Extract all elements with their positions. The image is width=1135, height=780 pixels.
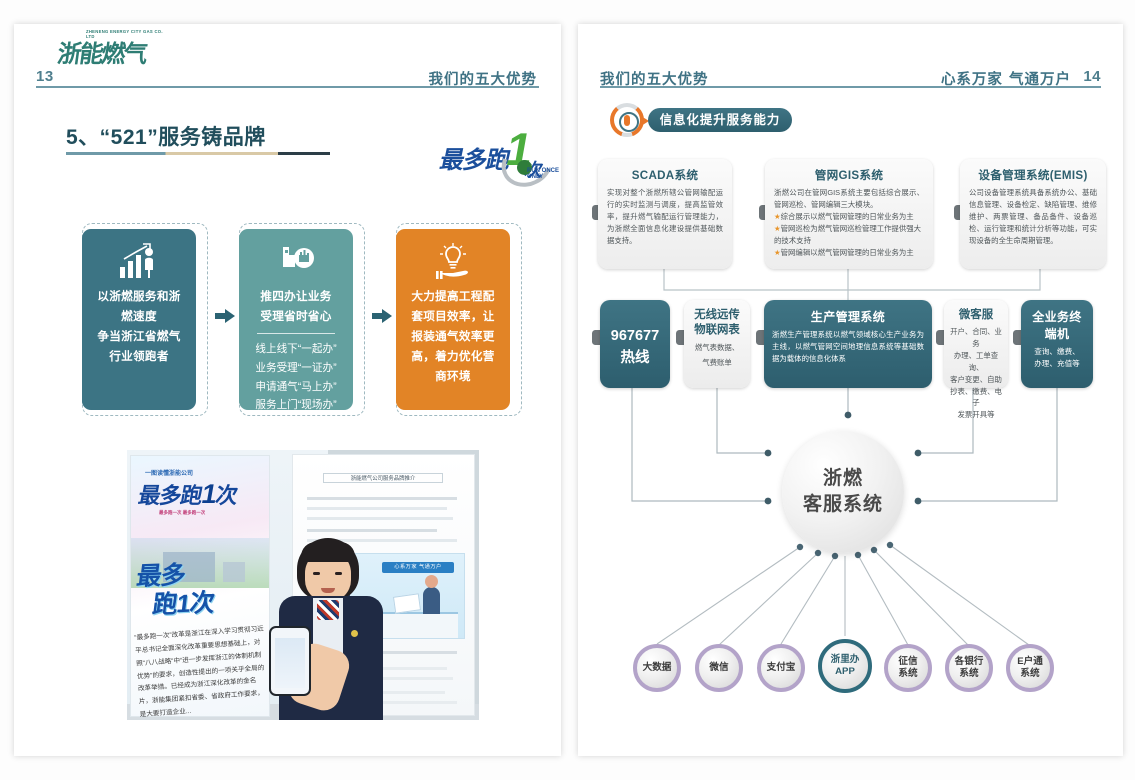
system-box-scada[interactable]: SCADA系统 实现对整个浙燃所辖公管网输配运行的实时监测与调度，提高监管效率，…: [598, 159, 732, 269]
slide-left: 13 浙能燃气 ZHENENG ENERGY CITY GAS CO. LTD …: [14, 24, 561, 756]
system-box-terminal[interactable]: 全业务终端机 查询、缴费、 办理、充值等: [1021, 300, 1093, 388]
strategy-card-3[interactable]: 大力提高工程配 套项目效率，让 报装通气效率更 高，着力优化营 商环境: [396, 229, 510, 410]
system-box-gis[interactable]: 管网GIS系统 浙燃公司在管网GIS系统主要包括综合展示、管网巡检、管网编辑三大…: [765, 159, 933, 269]
customer-service-hub[interactable]: 浙燃 客服系统: [782, 431, 904, 553]
right-page-number: 14: [1083, 68, 1101, 85]
channel-node-zhejiang-app[interactable]: 浙里办 APP: [818, 639, 872, 693]
promotional-photo: 浙能燃气公司服务品牌推介 心系万家 气通万户: [127, 450, 479, 720]
section-underline-dark: [278, 152, 330, 155]
hub-line-2: 客服系统: [803, 492, 883, 518]
channel-node-ehutong[interactable]: E户通 系统: [1006, 644, 1054, 692]
company-logo: 浙能燃气 ZHENENG ENERGY CITY GAS CO. LTD: [58, 28, 168, 66]
gis-body: 浙燃公司在管网GIS系统主要包括综合展示、管网巡检、管网编辑三大模块。: [774, 187, 924, 211]
left-page-number: 13: [36, 68, 54, 85]
channel-node-bigdata[interactable]: 大数据: [633, 644, 681, 692]
run-once-logo: 最多跑 1 次 RUN ONCE ONLY: [439, 124, 559, 186]
right-header-rule: [600, 86, 1101, 88]
emis-body: 公司设备管理系统具备系统办公、基础信息管理、设备检定、缺陷管理、维修维护、两票管…: [969, 187, 1097, 247]
photo-banner-title: 最多跑1次: [136, 478, 240, 510]
wechat-service-title: 微客服: [950, 308, 1002, 323]
system-box-production[interactable]: 生产管理系统 浙燃生产管理系统以燃气领域核心生产业务为主线，以燃气管网空间地理信…: [764, 300, 932, 388]
right-header: 我们的五大优势 心系万家 气通万户 14: [578, 24, 1123, 70]
hotline-title-2: 热线: [608, 348, 662, 370]
photo-banner-paragraph: “最多跑一次”改革是浙江在深入学习贯彻习近平总书记全面深化改革重要思想基础上，对…: [134, 624, 270, 720]
iot-title-2: 物联网表: [690, 323, 744, 338]
left-header: 13 浙能燃气 ZHENENG ENERGY CITY GAS CO. LTD …: [14, 24, 561, 70]
section-pill-label: 信息化提升服务能力: [648, 108, 792, 132]
terminal-body: 查询、缴费、 办理、充值等: [1029, 346, 1085, 371]
system-box-emis[interactable]: 设备管理系统(EMIS) 公司设备管理系统具备系统办公、基础信息管理、设备检定、…: [960, 159, 1106, 269]
strategy-card-2[interactable]: 推四办让业务 受理省时省心 线上线下“一起办” 业务受理“一证办” 申请通气“马…: [239, 229, 353, 410]
logo-english-text: ZHENENG ENERGY CITY GAS CO. LTD: [86, 29, 168, 40]
photo-person: [275, 538, 387, 720]
gis-title: 管网GIS系统: [774, 167, 924, 183]
channel-node-banks[interactable]: 各银行 系统: [945, 644, 993, 692]
photo-phone: [269, 626, 311, 696]
run-once-sub-en: RUN ONCE ONLY: [527, 168, 559, 180]
iot-title-1: 无线远传: [690, 308, 744, 323]
channel-node-credit[interactable]: 征信 系统: [884, 644, 932, 692]
photo-banner-sub: 最多跑一次 最多跑一次: [159, 510, 205, 516]
production-body: 浙燃生产管理系统以燃气领域核心生产业务为主线，以燃气管网空间地理信息系统等基础数…: [772, 329, 924, 365]
terminal-title: 全业务终端机: [1029, 308, 1085, 342]
production-title: 生产管理系统: [772, 308, 924, 325]
emis-title: 设备管理系统(EMIS): [969, 167, 1097, 183]
channel-node-wechat[interactable]: 微信: [695, 644, 743, 692]
photo-banner-top-small: 一图读懂浙能公司: [145, 468, 193, 477]
card-3-heading: 大力提高工程配 套项目效率，让 报装通气效率更 高，着力优化营 商环境: [405, 287, 501, 387]
strategy-card-1[interactable]: 以浙燃服务和浙 燃速度 争当浙江省燃气 行业领跑者: [82, 229, 196, 410]
channel-node-alipay[interactable]: 支付宝: [757, 644, 805, 692]
section-underline: [66, 152, 278, 155]
photo-right-board-title: 浙能燃气公司服务品牌推介: [323, 473, 443, 483]
system-box-wechat-service[interactable]: 微客服 开户、合同、业务 办理、工单查询、 客户变更、自助 抄表、缴费、电子 发…: [944, 300, 1008, 388]
presentation-page: 13 浙能燃气 ZHENENG ENERGY CITY GAS CO. LTD …: [0, 0, 1135, 780]
flow-arrow-1: [215, 309, 235, 323]
hub-line-1: 浙燃: [803, 466, 883, 492]
gis-bullets: ★综合展示以燃气管网管理的日常业务为主 ★管网巡检为燃气管网巡检管理工作提供强大…: [774, 211, 924, 259]
left-header-rule: [36, 86, 539, 88]
hotline-title-1: 967677: [608, 326, 662, 348]
system-box-hotline[interactable]: 967677 热线: [600, 300, 670, 388]
scada-title: SCADA系统: [607, 167, 723, 183]
wechat-service-body: 开户、合同、业务 办理、工单查询、 客户变更、自助 抄表、缴费、电子 发票开具等: [950, 326, 1002, 421]
iot-body-2: 气费账单: [690, 357, 744, 369]
photo-left-banner: 一图读懂浙能公司 最多跑1次 最多跑一次 最多跑一次 最多 跑1次 “最多跑一次…: [130, 455, 270, 717]
photo-banner-big2: 跑1次: [151, 583, 217, 621]
growth-chart-icon: [91, 243, 187, 283]
flow-arrow-2: [372, 309, 392, 323]
photo-illus-sign: 心系万家 气通万户: [382, 562, 454, 573]
target-hand-icon: [610, 103, 644, 137]
section-title: 5、“521”服务铸品牌: [66, 121, 266, 151]
card-2-divider: [257, 333, 335, 334]
iot-body-1: 燃气表数据、: [690, 342, 744, 354]
card-2-body: 线上线下“一起办” 业务受理“一证办” 申请通气“马上办” 服务上门“现场办”: [248, 340, 344, 415]
handshake-building-icon: [248, 243, 344, 283]
system-box-iot[interactable]: 无线远传 物联网表 燃气表数据、 气费账单: [684, 300, 750, 388]
strategy-cards: 以浙燃服务和浙 燃速度 争当浙江省燃气 行业领跑者: [82, 223, 522, 416]
scada-body: 实现对整个浙燃所辖公管网输配运行的实时监测与调度，提高监管效率，提升燃气输配运行…: [607, 187, 723, 247]
card-1-heading: 以浙燃服务和浙 燃速度 争当浙江省燃气 行业领跑者: [91, 287, 187, 367]
lightbulb-hand-icon: [405, 243, 501, 283]
card-2-heading: 推四办让业务 受理省时省心: [248, 287, 344, 327]
